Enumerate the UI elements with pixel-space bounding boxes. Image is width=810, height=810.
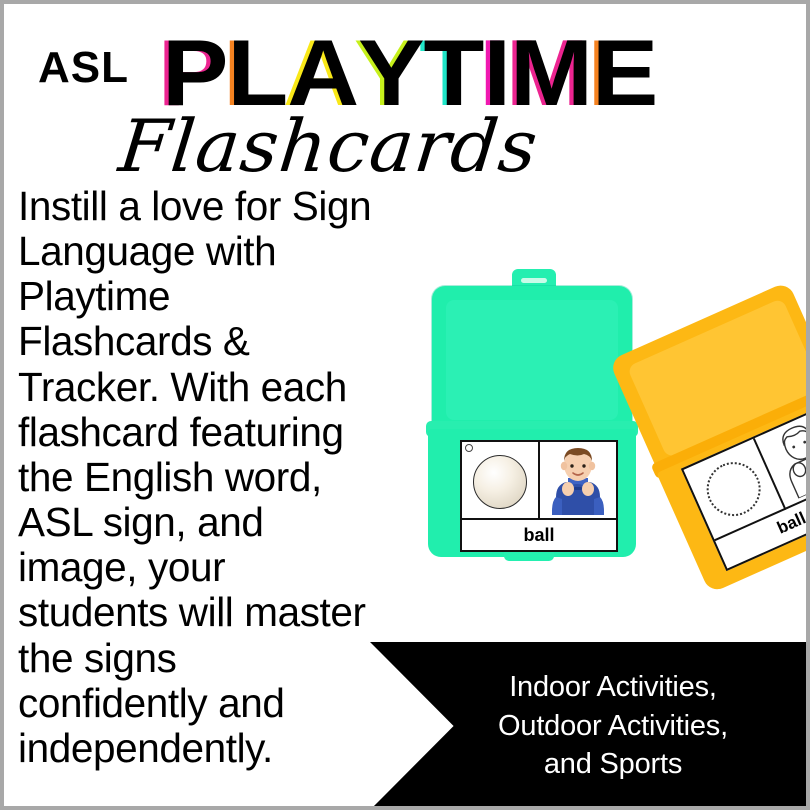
description-text: Instill a love for Sign Language with Pl… — [18, 184, 438, 771]
teal-box-lid — [432, 286, 632, 426]
flashcard-color-sign-cell — [540, 442, 616, 520]
card-corner-dot-icon — [465, 444, 473, 452]
flashcard-color-image-cell — [462, 442, 540, 520]
flashcard-color: ball — [460, 440, 618, 552]
teal-box-foot — [504, 552, 554, 561]
title-row: ASL PLAYTIME — [4, 18, 806, 110]
ball-outline-icon — [698, 453, 769, 524]
flashcard-color-panels — [462, 442, 616, 520]
asl-prefix-label: ASL — [38, 46, 129, 90]
ball-photo-icon — [473, 455, 527, 509]
teal-pencil-box: ball — [416, 269, 644, 561]
title-letter-e-7: E — [592, 28, 657, 117]
cover-inner: ASL PLAYTIME Flashcards Instill a love f… — [4, 4, 806, 806]
flashcards-cover-canvas: ASL PLAYTIME Flashcards Instill a love f… — [0, 0, 810, 810]
categories-banner-text: Indoor Activities, Outdoor Activities, a… — [498, 668, 728, 784]
flashcard-color-word: ball — [462, 520, 616, 550]
flashcards-script-title: Flashcards — [115, 104, 542, 188]
asl-sign-ball-icon — [546, 445, 610, 515]
